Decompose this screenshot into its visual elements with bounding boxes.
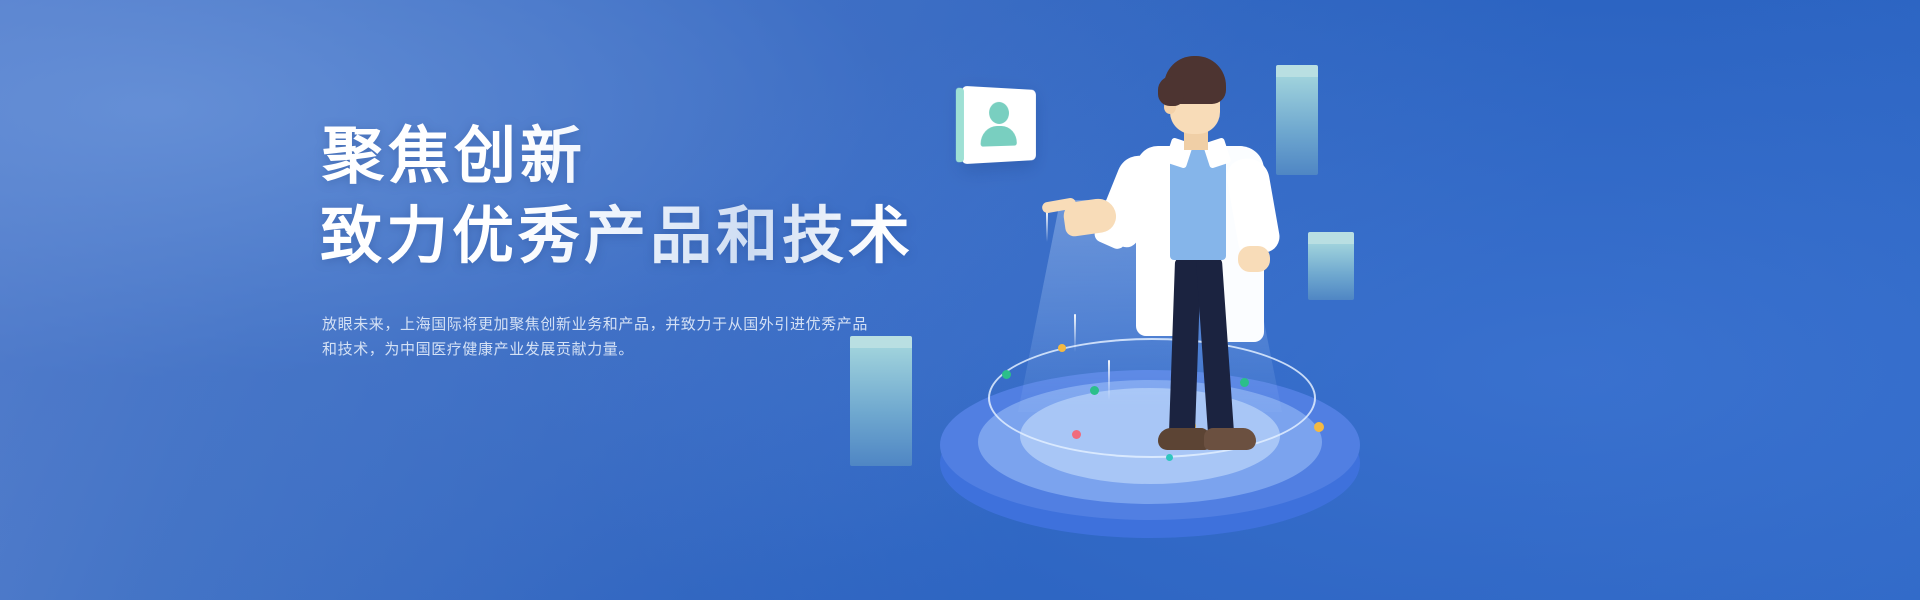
bar-body — [1308, 244, 1354, 300]
particle-dot-green — [1002, 370, 1011, 379]
banner-subtitle: 放眼未来，上海国际将更加聚焦创新业务和产品，并致力于从国外引进优秀产品 和技术，… — [322, 312, 922, 362]
hair-side — [1158, 76, 1184, 106]
bar-body — [850, 348, 912, 466]
shoe-right — [1204, 428, 1256, 450]
headline-line-1: 聚焦创新 — [322, 120, 1042, 194]
hero-banner: 聚焦创新 致力优秀产品和技术 放眼未来，上海国际将更加聚焦创新业务和产品，并致力… — [0, 0, 1920, 600]
light-streak — [1074, 314, 1076, 352]
floating-bar-block-2 — [1308, 232, 1354, 300]
pants-left-leg — [1169, 258, 1201, 437]
shoe-left — [1158, 428, 1210, 450]
particle-dot-yellow — [1058, 344, 1066, 352]
particle-dot-yellow — [1314, 422, 1324, 432]
banner-copy-block: 聚焦创新 致力优秀产品和技术 放眼未来，上海国际将更加聚焦创新业务和产品，并致力… — [322, 120, 1042, 362]
hero-illustration — [1020, 0, 1920, 600]
light-streak — [1046, 212, 1048, 242]
headline-line-2: 致力优秀产品和技术 — [320, 200, 1042, 274]
hand-right — [1238, 246, 1270, 272]
doctor-figure — [1080, 50, 1310, 470]
subtitle-line-2: 和技术，为中国医疗健康产业发展贡献力量。 — [322, 337, 922, 362]
subtitle-line-1: 放眼未来，上海国际将更加聚焦创新业务和产品，并致力于从国外引进优秀产品 — [322, 312, 922, 337]
